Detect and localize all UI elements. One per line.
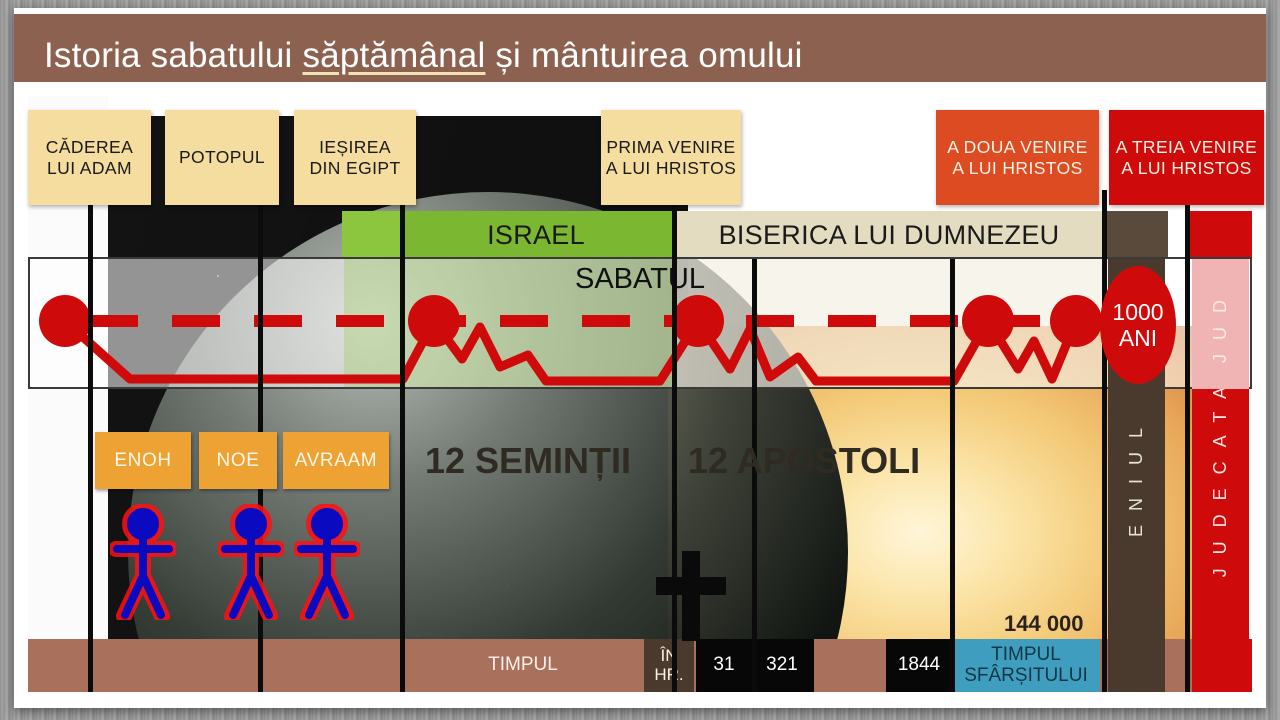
event-box-fall-of-adam[interactable]: CĂDEREA LUI ADAM <box>28 110 151 205</box>
vline-exodus <box>400 190 405 692</box>
stick-figure-noe <box>218 504 284 620</box>
dot-second-coming <box>962 295 1014 347</box>
millennium-oval-line2: ANI <box>1119 325 1157 351</box>
timebar-segment-year-1844: 1844 <box>886 639 952 692</box>
cross-vertical-beam <box>682 551 700 641</box>
name-tag-enoh[interactable]: ENOH <box>95 432 191 489</box>
band-millennium-top <box>1106 211 1168 259</box>
time-bar: TIMPUL ÎN HR. 31 321 1844 TIMPUL SFÂRȘIT… <box>28 639 1252 692</box>
sabbath-chart-box: SABATUL <box>28 257 1252 389</box>
column-millennium-letters: ENIUL <box>1119 414 1153 537</box>
label-twelve-tribes: 12 SEMINȚII <box>425 440 631 482</box>
vline-fall-of-adam <box>88 190 93 692</box>
event-label-line1: A DOUA VENIRE <box>947 137 1087 158</box>
vline-year-1844 <box>950 259 955 692</box>
title-part-underlined: săptămânal <box>302 36 485 75</box>
title-part-after: și mântuirea omului <box>485 36 802 75</box>
name-tag-avraam[interactable]: AVRAAM <box>283 432 389 489</box>
event-label-line1: PRIMA VENIRE <box>606 137 735 158</box>
event-box-second-coming[interactable]: A DOUA VENIRE A LUI HRISTOS <box>936 110 1099 205</box>
timebar-segment-year-321: 321 <box>750 639 814 692</box>
timebar-segment-timpul: TIMPUL <box>400 639 646 692</box>
timebar-label-line2: SFÂRȘITULUI <box>964 666 1088 687</box>
band-pre-israel <box>342 211 400 259</box>
event-box-third-coming[interactable]: A TREIA VENIRE A LUI HRISTOS <box>1109 110 1264 205</box>
page-title: Istoria sabatului săptămânal și mântuire… <box>44 36 803 76</box>
band-church: BISERICA LUI DUMNEZEU <box>672 211 1106 259</box>
timebar-segment-in-hr: ÎN HR. <box>644 639 694 692</box>
stick-figure-enoh <box>110 504 176 620</box>
band-israel: ISRAEL <box>400 211 672 259</box>
millennium-oval-badge: 1000 ANI <box>1100 266 1176 384</box>
event-label-line1: IEȘIREA <box>319 137 391 158</box>
band-judgment-top <box>1190 211 1252 259</box>
sabbath-actual-line <box>65 321 1076 381</box>
band-israel-label: ISRAEL <box>487 220 585 251</box>
event-label-line1: A TREIA VENIRE <box>1116 137 1257 158</box>
timebar-segment-year-31: 31 <box>696 639 752 692</box>
stick-figure-avraam <box>294 504 360 620</box>
millennium-oval-line1: 1000 <box>1112 299 1163 325</box>
sabbath-line-graph <box>30 259 1250 387</box>
column-judgment-highlight-letters: JUD <box>1210 286 1231 363</box>
name-tag-label: NOE <box>217 450 260 472</box>
event-label-line2: DIN EGIPT <box>309 158 400 179</box>
timebar-label: TIMPUL <box>488 655 558 676</box>
event-label-line2: A LUI HRISTOS <box>952 158 1082 179</box>
event-label-line2: LUI ADAM <box>47 158 132 179</box>
event-label-line1: CĂDEREA <box>46 137 133 158</box>
sealed-count-label: 144 000 <box>1004 611 1084 637</box>
cross-icon <box>656 551 726 641</box>
name-tag-label: ENOH <box>114 450 171 472</box>
timebar-label-line1: TIMPUL <box>991 645 1061 666</box>
event-label-line2: A LUI HRISTOS <box>606 158 736 179</box>
dot-fall-of-adam <box>39 295 91 347</box>
name-tag-noe[interactable]: NOE <box>199 432 277 489</box>
column-judgment-highlight: JUD <box>1192 259 1249 389</box>
event-label-line1: POTOPUL <box>179 147 265 168</box>
event-box-exodus[interactable]: IEȘIREA DIN EGIPT <box>294 110 416 205</box>
timebar-label: 321 <box>766 655 798 676</box>
name-tag-label: AVRAAM <box>295 450 377 472</box>
vline-third-coming <box>1185 190 1190 692</box>
event-label-line2: A LUI HRISTOS <box>1121 158 1251 179</box>
cross-horizontal-beam <box>656 577 726 595</box>
timebar-label: 1844 <box>898 655 940 676</box>
band-church-label: BISERICA LUI DUMNEZEU <box>719 220 1060 251</box>
dot-first-coming <box>672 295 724 347</box>
dot-exodus <box>408 295 460 347</box>
vline-second-coming <box>1102 190 1107 692</box>
timebar-label: 31 <box>713 655 734 676</box>
event-box-first-coming[interactable]: PRIMA VENIRE A LUI HRISTOS <box>601 110 741 205</box>
column-judgment-letters: JUDECATA <box>1203 373 1237 577</box>
timebar-label-line2: HR. <box>654 666 683 685</box>
timebar-segment-timpul-sfarsitului: TIMPUL SFÂRȘITULUI <box>952 639 1100 692</box>
dot-millennium-start <box>1050 295 1102 347</box>
title-bar: Istoria sabatului săptămânal și mântuire… <box>14 14 1266 82</box>
event-box-flood[interactable]: POTOPUL <box>165 110 279 205</box>
label-twelve-apostles: 12 APOSTOLI <box>688 440 920 482</box>
title-part-before: Istoria sabatului <box>44 36 302 75</box>
